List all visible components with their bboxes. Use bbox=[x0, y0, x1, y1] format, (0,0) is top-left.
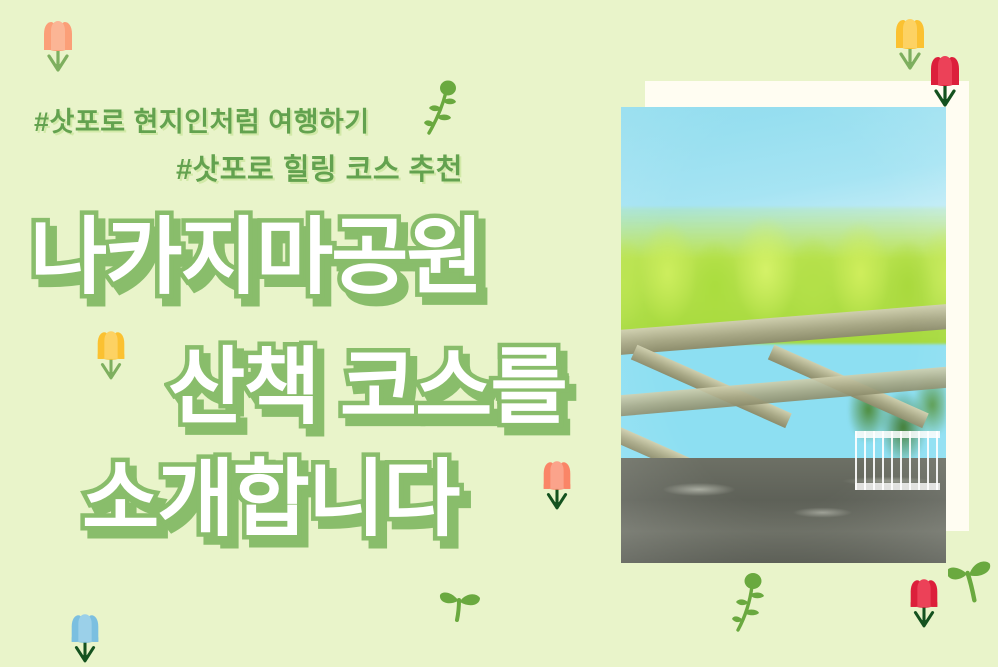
poster-canvas: #삿포로 현지인처럼 여행하기 #삿포로 힐링 코스 추천 나카지마공원 산책 … bbox=[0, 0, 998, 667]
hashtag-line-1: #삿포로 현지인처럼 여행하기 bbox=[34, 100, 370, 139]
photo-vignette bbox=[621, 107, 946, 563]
title-line-1: 나카지마공원 bbox=[30, 190, 482, 311]
tulip-icon-middle-left bbox=[92, 330, 130, 382]
title-line-3: 소개합니다 bbox=[82, 432, 458, 553]
wisteria-photo bbox=[621, 107, 946, 563]
hashtag-line-2: #삿포로 힐링 코스 추천 bbox=[176, 146, 463, 188]
tulip-icon-top-right-yellow bbox=[890, 18, 930, 72]
sprout-icon-middle bbox=[438, 586, 482, 622]
sprig-icon-top bbox=[424, 78, 458, 136]
tulip-icon-bottom-right bbox=[905, 578, 943, 630]
tulip-icon-bottom-left bbox=[66, 613, 104, 665]
sprig-icon-bottom bbox=[732, 572, 766, 632]
sprout-icon-bottom-right bbox=[948, 556, 996, 604]
title-line-2: 산책 코스를 bbox=[168, 320, 566, 441]
tulip-icon-middle-center bbox=[538, 460, 576, 512]
tulip-icon-top-left bbox=[38, 20, 78, 74]
tulip-icon-top-right-red bbox=[925, 55, 965, 109]
